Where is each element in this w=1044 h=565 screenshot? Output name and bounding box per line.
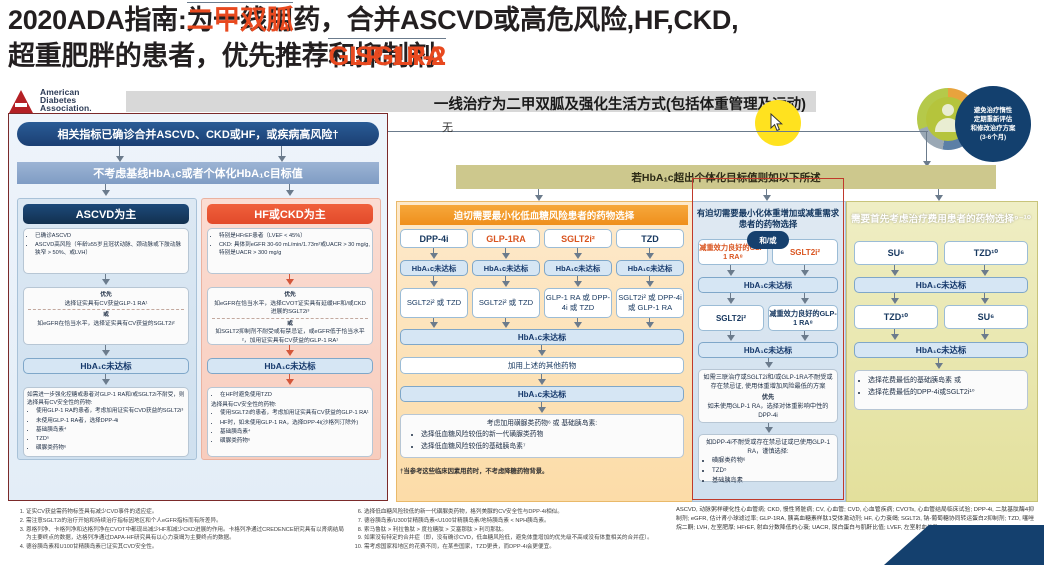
cost-hba1c-1: HbA₁c未达标 xyxy=(854,277,1028,293)
hypo-final-box: 考虑加用磺脲类药物⁶ 或 基础胰岛素: 选择低血糖风险较低的新一代磺脲类药物 选… xyxy=(400,414,684,458)
footnote-item: 证实CV获益需药物标签具有减少CVD事件的适应症。 xyxy=(26,508,344,516)
ascvd-final-item: 未使用GLP-1 RA者，选择DPP-4i xyxy=(36,417,185,425)
footnote-item: 需考虑国家和地区的花费不同，在某些国家，TZD更贵，而DPP-4i会更便宜。 xyxy=(364,543,670,551)
hf-ckd-final-item: HF时，如未使用GLP-1 RA，选择DPP-4i(沙格列汀除外) xyxy=(220,419,369,427)
hypo-note: †当参考这些临床因素用药时，不考虑降糖药物背景。 xyxy=(400,466,700,475)
hypo-hba1c-row-1: HbA₁c未达标 xyxy=(472,260,540,276)
cost-final-item: 选择花费最低的DPP-4i或SGLT2i¹⁰ xyxy=(868,387,1023,398)
hypo-next-drug: SGLT2i² 或 DPP-4i 或 GLP-1 RA xyxy=(616,288,684,318)
hypo-drug-glp1ra: GLP-1RA xyxy=(472,229,540,248)
ada-logo-line3: Association. xyxy=(40,104,92,112)
hf-ckd-priority-2: 如SGLT2抑制剂不耐受或有禁忌证，或eGFR低于恰当水平²，加用证实具有CV获… xyxy=(212,328,368,345)
cost-row2-tzd: TZD¹⁰ xyxy=(854,305,938,329)
cost-column-header: 需要首先考虑治疗费用患者的药物选择⁹⁻¹⁰ xyxy=(850,205,1032,233)
diagnosis-banner: 相关指标已确诊合并ASCVD、CKD或HF，或疾病高风险† xyxy=(17,122,379,146)
cost-drug-su: SU⁶ xyxy=(854,241,938,265)
hypo-hba1c-row-1: HbA₁c未达标 xyxy=(616,260,684,276)
footnotes-mid: 选择低血糖风险较低的新一代磺脲类药物，格列美脲的CV安全性与DPP-4i相似。 … xyxy=(352,508,670,552)
hypo-hba1c-row-1: HbA₁c未达标 xyxy=(400,260,468,276)
algorithm-frame: 相关指标已确诊合并ASCVD、CKD或HF，或疾病高风险† 不考虑基线HbA₁c… xyxy=(8,113,1036,501)
footnote-item: 德谷胰岛素和U100甘精胰岛素已证实其CVD安全性。 xyxy=(26,543,344,551)
header-bar: 一线治疗为二甲双胍及强化生活方式(包括体重管理及运动) xyxy=(126,91,816,112)
hypo-drug-tzd: TZD xyxy=(616,229,684,248)
hf-ckd-final-item: 磺脲类药物⁶ xyxy=(220,437,369,445)
ascvd-final-box: 如需进一步强化控糖或患者对GLP-1 RA和/或SGLT2i不耐受，则选择具有C… xyxy=(23,387,189,457)
ascvd-final-lead: 如需进一步强化控糖或患者对GLP-1 RA和/或SGLT2i不耐受，则选择具有C… xyxy=(27,391,185,407)
page-title: 2020ADA指南:二甲双胍为一线用药，合并ASCVD或高危风险,HF,CKD,… xyxy=(8,2,1038,80)
footnote-item: 恩格列净、卡格列净和达格列净在CVOT中都现出减少HF和减少CKD进展的作用。卡… xyxy=(26,526,344,543)
hypo-add-other-drugs: 加用上述的其他药物 xyxy=(400,357,684,374)
hypo-next-drug: GLP-1 RA 或 DPP-4i 或 TZD xyxy=(544,288,612,318)
ada-triangle-icon xyxy=(8,90,34,115)
cost-row2-su: SU⁶ xyxy=(944,305,1028,329)
ascvd-final-item: 磺脲类药物⁶ xyxy=(36,444,185,452)
ascvd-final-item: 使用GLP-1 RA的患者，考虑加用证实有CVD获益的SGLT2i³ xyxy=(36,407,185,415)
ascvd-criteria-item: 已确诊ASCVD xyxy=(35,232,186,240)
hypo-hba1c-row-1: HbA₁c未达标 xyxy=(544,260,612,276)
title-line-2: 超重肥胖的患者，优先推荐GLP-1RA和SGLT-2抑制剂 xyxy=(8,38,1038,74)
ascvd-priority-2: 如eGFR在恰当水平，选择证实具有CV获益的SGLT2i² xyxy=(28,320,184,329)
ascvd-criteria-box: 已确诊ASCVD ASCVD高风险（年龄≥55岁且冠状动脉、颈动脉或下肢动脉狭窄… xyxy=(23,228,189,274)
footnote-item: 如果没有特定的合并症（即，没有确诊CVD，低血糖风险低，避免体重增加的优先级不高… xyxy=(364,534,670,542)
hf-ckd-final-box: 在HF时避免使用TZD 选择具有CV安全性的药物: 使用SGLT2i的患者，考虑… xyxy=(207,387,373,457)
hf-ckd-priority-1: 如eGFR在恰当水平，选择CVOT证实具有延缓HF和/或CKD进展的SGLT2i… xyxy=(212,300,368,317)
hf-ckd-criteria-item: 特别是HFrEF患者（LVEF < 45%） xyxy=(219,232,370,240)
branch-no-label: 无 xyxy=(442,119,453,135)
hf-ckd-criteria-box: 特别是HFrEF患者（LVEF < 45%） CKD: 具体到eGFR 30-6… xyxy=(207,228,373,274)
title-line-1: 2020ADA指南:二甲双胍为一线用药，合并ASCVD或高危风险,HF,CKD, xyxy=(8,2,1038,38)
ascvd-priority-title: 优先 xyxy=(28,291,184,300)
hypo-final-item: 选择低血糖风险较低的新一代磺脲类药物 xyxy=(421,429,677,440)
ascvd-final-item: TZD⁵ xyxy=(36,435,185,443)
hf-ckd-avoid-tzd: 在HF时避免使用TZD xyxy=(220,391,369,399)
footnote-item: 选择低血糖风险较低的新一代磺脲类药物，格列美脲的CV安全性与DPP-4i相似。 xyxy=(364,508,670,516)
cost-final-box: 选择花费最低的基础胰岛素 或 选择花费最低的DPP-4i或SGLT2i¹⁰ xyxy=(854,370,1028,410)
cost-hba1c-2: HbA₁c未达标 xyxy=(854,342,1028,358)
slide-root: 2020ADA指南:二甲双胍为一线用药，合并ASCVD或高危风险,HF,CKD,… xyxy=(0,0,1044,565)
ada-logo-text: American Diabetes Association. xyxy=(40,88,92,112)
hf-ckd-hba1c-not-met: HbA₁c未达标 xyxy=(207,358,373,374)
ascvd-ckd-hf-frame: 相关指标已确诊合并ASCVD、CKD或HF，或疾病高风险† 不考虑基线HbA₁c… xyxy=(8,113,388,501)
ascvd-priority-1: 选择证实具有CV获益GLP-1 RA¹ xyxy=(28,300,184,309)
footnote-item: 索马鲁肽 > 利拉鲁肽 > 度拉糖肽 > 艾塞那肽 > 利司那肽。 xyxy=(364,526,670,534)
hypo-hba1c-wide-2: HbA₁c未达标 xyxy=(400,386,684,402)
header-bar-text: 一线治疗为二甲双胍及强化生活方式(包括体重管理及运动) xyxy=(434,93,806,114)
hf-ckd-criteria-item: CKD: 具体到eGFR 30-60 mL/min/1.73m²或UACR > … xyxy=(219,241,370,257)
ascvd-or: 或 xyxy=(28,311,184,320)
hypo-hba1c-wide-1: HbA₁c未达标 xyxy=(400,329,684,345)
ascvd-column-header: ASCVD为主 xyxy=(23,204,189,224)
hf-ckd-priority-box: 优先 如eGFR在恰当水平，选择CVOT证实具有延缓HF和/或CKD进展的SGL… xyxy=(207,287,373,345)
footnotes-left: 证实CV获益需药物标签具有减少CVD事件的适应症。 需注意SGLT2i的治疗开始… xyxy=(14,508,344,551)
cost-drug-tzd: TZD¹⁰ xyxy=(944,241,1028,265)
weight-and-or-badge: 和/或 xyxy=(747,231,789,249)
footnote-item: 德谷胰岛素/U300甘精胰岛素<U100甘精胰岛素/地特胰岛素 < NPH胰岛素… xyxy=(364,517,670,525)
hypo-next-drug: SGLT2i² 或 TZD xyxy=(400,288,468,318)
hypo-next-drug: SGLT2i² 或 TZD xyxy=(472,288,540,318)
ascvd-criteria-item: ASCVD高风险（年龄≥55岁且冠状动脉、颈动脉或下肢动脉狭窄 > 50%、或L… xyxy=(35,241,186,257)
hf-ckd-priority-title: 优先 xyxy=(212,291,368,300)
hf-ckd-final-item: 基础胰岛素⁴ xyxy=(220,428,369,436)
hypo-final-item: 选择低血糖风险较低的基础胰岛素⁷ xyxy=(421,441,677,452)
hypo-final-lead: 考虑加用磺脲类药物⁶ 或 基础胰岛素: xyxy=(407,418,677,429)
hypo-drug-dpp4i: DPP-4i xyxy=(400,229,468,248)
ascvd-priority-box: 优先 选择证实具有CV获益GLP-1 RA¹ 或 如eGFR在恰当水平，选择证实… xyxy=(23,287,189,345)
hf-ckd-or: 或 xyxy=(212,320,368,329)
ascvd-final-item: 基础胰岛素⁴ xyxy=(36,426,185,434)
cost-final-item: 选择花费最低的基础胰岛素 或 xyxy=(868,375,1023,386)
hypo-drug-sglt2i: SGLT2i² xyxy=(544,229,612,248)
hf-ckd-final-item: 使用SGLT2i的患者，考虑加用证实具有CV获益的GLP-1 RA¹ xyxy=(220,409,369,417)
hypo-column-header: 迫切需要最小化低血糖风险患者的药物选择 xyxy=(400,205,688,225)
footnote-item: 需注意SGLT2i的治疗开始和持续治疗指标因地区和个人eGFR指标而有所差异。 xyxy=(26,517,344,525)
ascvd-hba1c-not-met: HbA₁c未达标 xyxy=(23,358,189,374)
baseline-hba1c-banner: 不考虑基线HbA₁c或者个体化HbA₁c目标值 xyxy=(17,162,379,184)
hf-ckd-column-header: HF或CKD为主 xyxy=(207,204,373,224)
weight-column-highlight-border xyxy=(692,178,844,500)
hf-ckd-final-lead: 选择具有CV安全性的药物: xyxy=(211,401,369,409)
